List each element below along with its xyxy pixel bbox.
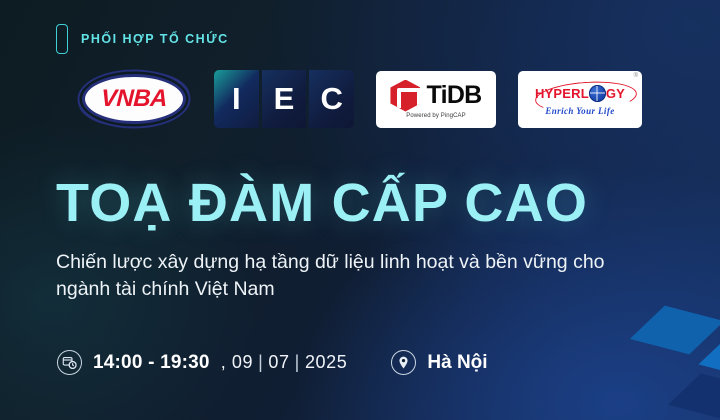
tidb-hexagon-icon	[390, 80, 420, 112]
event-day: 09	[232, 352, 253, 372]
hyperlogy-main: HYPERL GY	[526, 85, 634, 102]
date-separator-1: |	[253, 352, 268, 372]
event-year: 2025	[305, 352, 347, 372]
date-separator-2: |	[290, 352, 305, 372]
logo-hyperlogy: ® HYPERL GY Enrich Your Life	[518, 71, 642, 128]
event-time: 14:00 - 19:30	[93, 352, 210, 374]
logo-iec: I E C	[214, 70, 354, 128]
calendar-clock-icon	[57, 350, 82, 375]
logo-vnba: VNBA	[76, 68, 192, 130]
vnba-oval: VNBA	[82, 74, 186, 124]
globe-icon	[589, 85, 606, 102]
partner-logo-row: VNBA I E C TiDB Powered by PingCAP ® HYP…	[0, 68, 720, 130]
registered-mark: ®	[634, 73, 638, 79]
eyebrow-label: PHỐI HỢP TỔ CHỨC	[81, 32, 229, 46]
event-date: , 09|07|2025	[221, 352, 348, 373]
vnba-wordmark: VNBA	[100, 85, 167, 113]
iec-letter-i: I	[214, 70, 259, 128]
event-location: Hà Nội	[427, 352, 487, 374]
event-meta: 14:00 - 19:30 , 09|07|2025 Hà Nội	[57, 350, 488, 375]
decorative-parallelogram-1	[630, 306, 720, 355]
event-subtitle: Chiến lược xây dựng hạ tầng dữ liệu linh…	[56, 249, 656, 303]
logo-tidb: TiDB Powered by PingCAP	[376, 71, 496, 128]
date-comma: ,	[221, 352, 227, 372]
eyebrow: PHỐI HỢP TỔ CHỨC	[56, 24, 229, 54]
hyperlogy-arc-icon	[534, 78, 638, 115]
decorative-parallelogram-3	[668, 373, 720, 418]
vertical-bar-icon	[56, 24, 68, 54]
event-month: 07	[268, 352, 289, 372]
event-title: TOẠ ĐÀM CẤP CAO	[56, 176, 588, 230]
tidb-wordmark: TiDB	[426, 81, 481, 110]
tidb-tagline: Powered by PingCAP	[406, 113, 466, 119]
tidb-main: TiDB	[390, 80, 481, 112]
iec-letter-c: C	[309, 70, 354, 128]
event-banner: PHỐI HỢP TỔ CHỨC VNBA I E C TiDB Powered…	[0, 0, 720, 420]
iec-letter-e: E	[262, 70, 307, 128]
location-pin-icon	[391, 350, 416, 375]
